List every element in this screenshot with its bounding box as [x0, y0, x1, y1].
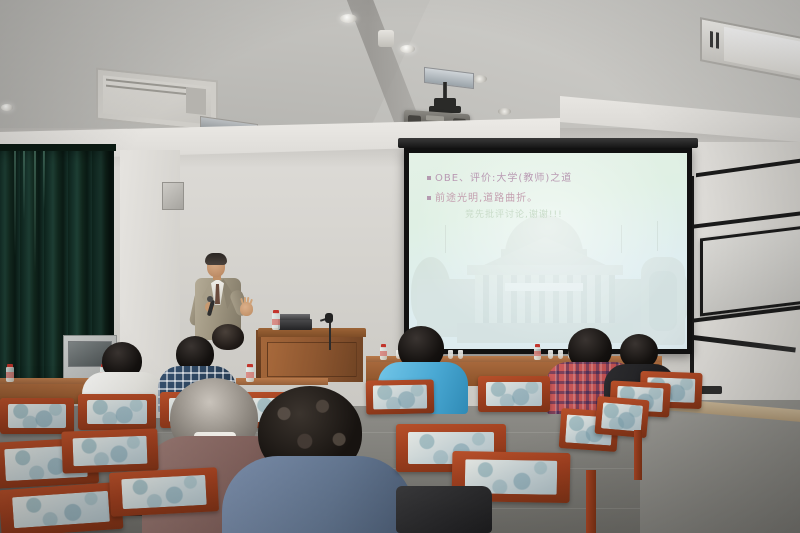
screen-surface: OBE、评价:大学(教师)之道 前途光明,道路曲折。 竞先批评讨论,谢谢!!!: [409, 153, 687, 349]
downlight-icon: [472, 75, 487, 83]
gooseneck-mic-stand: [329, 320, 331, 350]
water-bottle: [380, 344, 387, 360]
auditorium-chair[interactable]: [78, 394, 156, 430]
water-bottle: [272, 310, 280, 330]
slide-line-2: 前途光明,道路曲折。: [427, 189, 687, 204]
whiteboard: [700, 225, 800, 316]
downlight-icon: [1, 104, 13, 111]
paper-cup: [458, 350, 463, 359]
curtain-rail: [0, 144, 116, 151]
chair-leg: [634, 430, 642, 480]
presenter-hair: [205, 253, 227, 265]
water-bottle: [246, 364, 254, 382]
downlight-icon: [340, 14, 357, 23]
audience-head: [212, 324, 244, 350]
podium: [261, 336, 363, 382]
smoke-detector-icon: [378, 30, 394, 47]
auditorium-chair[interactable]: [0, 398, 74, 434]
laptop: [278, 319, 312, 330]
downlight-icon: [498, 108, 511, 115]
lecture-hall-photo: OBE、评价:大学(教师)之道 前途光明,道路曲折。 竞先批评讨论,谢谢!!!: [0, 0, 800, 533]
slide-bullet-icon: [427, 196, 431, 200]
screen-housing: [398, 138, 698, 148]
auditorium-chair[interactable]: [109, 467, 219, 517]
slide-line-1: OBE、评价:大学(教师)之道: [427, 169, 687, 184]
auditorium-chair[interactable]: [61, 428, 158, 473]
auditorium-chair[interactable]: [0, 482, 123, 533]
microphone-head: [207, 296, 213, 302]
audience-torso: [222, 456, 414, 533]
downlight-icon: [400, 45, 415, 53]
presenter-gesturing-hand: [240, 302, 253, 316]
slide-line-3: 竞先批评讨论,谢谢!!!: [465, 207, 687, 220]
slide-bullet-icon: [427, 176, 431, 180]
backpack: [396, 486, 492, 533]
floor-right-aisle: [640, 400, 800, 533]
paper-cup: [558, 350, 563, 359]
wall-speaker-icon: [162, 182, 184, 210]
auditorium-chair[interactable]: [366, 379, 435, 414]
water-bottle: [534, 344, 541, 360]
paper-cup: [548, 350, 553, 359]
water-bottle: [6, 364, 14, 382]
projection-screen: OBE、评价:大学(教师)之道 前途光明,道路曲折。 竞先批评讨论,谢谢!!!: [404, 146, 692, 354]
chair-leg: [586, 470, 596, 533]
gooseneck-mic-head: [325, 313, 333, 323]
auditorium-chair[interactable]: [478, 376, 550, 412]
paper-cup: [448, 350, 453, 359]
